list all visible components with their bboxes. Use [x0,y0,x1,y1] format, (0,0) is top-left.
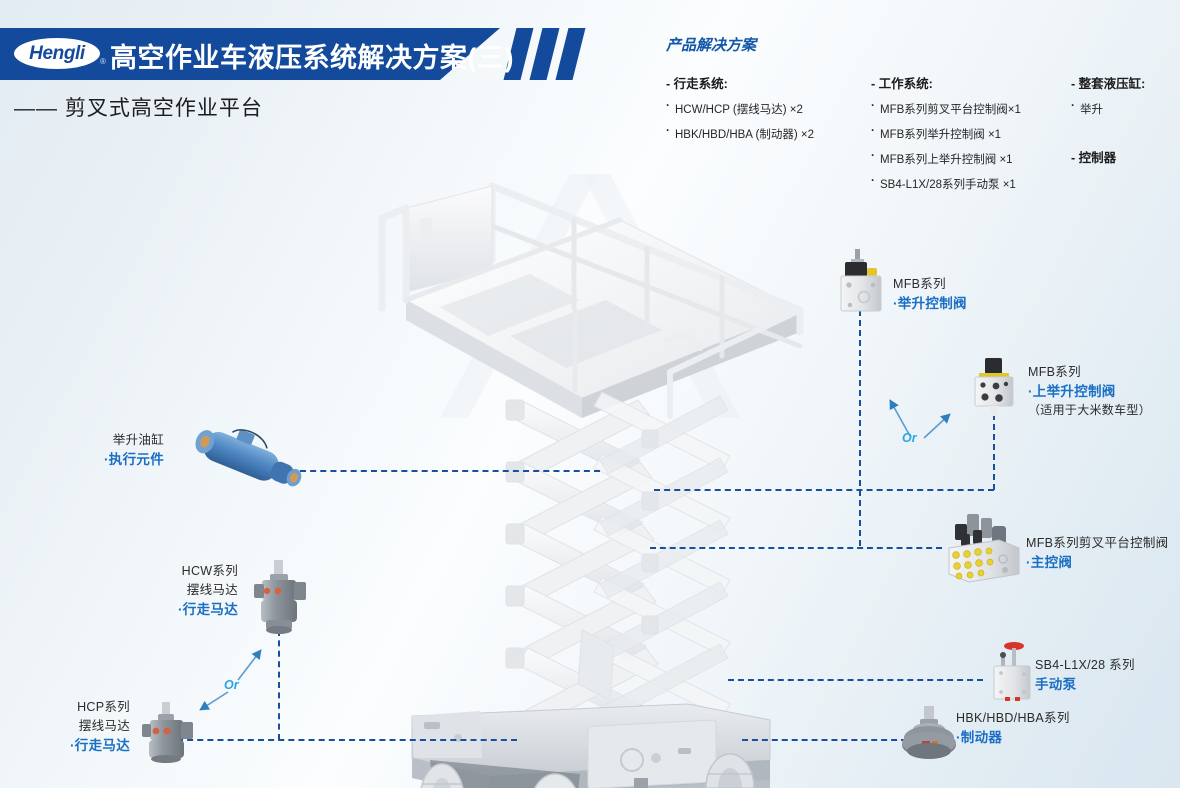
callout-line: MFB系列 [1028,363,1151,382]
scissor-arms [506,392,730,726]
registered-trademark-icon: ® [100,57,106,66]
callout-line: 举升油缸 [64,431,164,450]
solution-column-work-system: - 工作系统: MFB系列剪叉平台控制阀×1 MFB系列举升控制阀 ×1 MFB… [871,73,1071,201]
solution-item: MFB系列举升控制阀 ×1 [871,126,1071,142]
callout-line: 摆线马达 [150,581,238,600]
callout-hcp-motor: HCP系列 摆线马达 ·行走马达 [42,698,130,755]
connector-upper-lift-valve [654,489,994,491]
callout-line: 手动泵 [1035,675,1135,694]
callout-line: ·上举升控制阀 [1028,382,1151,401]
callout-mfb-lift-valve: MFB系列 ·举升控制阀 [893,275,967,313]
connector-hcp-motor [177,739,517,741]
solution-column-heading: - 行走系统: [666,73,871,92]
scissor-lift-platform-illustration [370,160,830,788]
mfb-lift-control-valve-image [832,248,890,314]
header-chevron-stripes [496,28,626,80]
or-label-right: Or [902,431,917,445]
callout-mfb-main-valve: MFB系列剪叉平台控制阀 ·主控阀 [1026,534,1169,572]
logo-wordmark: Hengli [14,38,100,69]
callout-hand-pump: SB4-L1X/28 系列 手动泵 [1035,656,1135,694]
chevron-stripe-3 [556,28,586,80]
callout-line: 摆线马达 [42,717,130,736]
connector-lift-cylinder [300,470,600,472]
solution-item: MFB系列剪叉平台控制阀×1 [871,101,1071,117]
callout-lift-cylinder: 举升油缸 ·执行元件 [64,431,164,469]
callout-line: HCP系列 [42,698,130,717]
solution-item: SB4-L1X/28系列手动泵 ×1 [871,176,1071,192]
callout-hcw-motor: HCW系列 摆线马达 ·行走马达 [150,562,238,619]
callout-line: ·执行元件 [64,450,164,469]
connector-brake [742,739,907,741]
chevron-stripe-2 [530,28,560,80]
solution-column-heading-controller: - 控制器 [1071,147,1180,166]
page-subtitle: —— 剪叉式高空作业平台 [14,92,263,122]
hengli-logo: Hengli ® [14,38,100,69]
slide-canvas: Hengli ® 高空作业车液压系统解决方案(三) —— 剪叉式高空作业平台 产… [0,0,1180,788]
hcw-motor-image [248,558,310,636]
chassis-base [412,704,770,788]
solution-column-heading: - 整套液压缸: [1071,73,1180,92]
callout-line: MFB系列 [893,275,967,294]
callout-line: MFB系列剪叉平台控制阀 [1026,534,1169,553]
page-title: 高空作业车液压系统解决方案(三) [110,36,514,75]
callout-line: SB4-L1X/28 系列 [1035,656,1135,675]
callout-line: ·举升控制阀 [893,294,967,313]
callout-line: ·主控阀 [1026,553,1169,572]
connector-lift-valve-vertical [859,310,861,546]
solution-column-travel-system: - 行走系统: HCW/HCP (摆线马达) ×2 HBK/HBD/HBA (制… [666,73,871,201]
or-arrows-left [186,640,296,720]
solution-item: HBK/HBD/HBA (制动器) ×2 [666,126,871,142]
solution-column-heading: - 工作系统: [871,73,1071,92]
product-solution-panel: 产品解决方案 - 行走系统: HCW/HCP (摆线马达) ×2 HBK/HBD… [666,34,1180,201]
solution-item: 举升 [1071,101,1180,117]
hand-pump-image [985,640,1037,702]
solution-item: HCW/HCP (摆线马达) ×2 [666,101,871,117]
callout-line: ·行走马达 [42,736,130,755]
callout-line: （适用于大米数车型） [1028,401,1151,420]
callout-line: HCW系列 [150,562,238,581]
product-solution-title: 产品解决方案 [666,34,1180,55]
solution-column-cylinder-set: - 整套液压缸: 举升 - 控制器 [1071,73,1180,201]
callout-brake: HBK/HBD/HBA系列 ·制动器 [956,709,1070,747]
lift-cylinder-image [178,418,318,498]
or-label-left: Or [224,678,239,692]
solution-item: MFB系列上举升控制阀 ×1 [871,151,1071,167]
brake-image [898,705,960,763]
callout-line: ·制动器 [956,728,1070,747]
mfb-main-control-valve-image [943,512,1025,584]
or-arrows-right [872,382,992,452]
callout-mfb-upper-lift-valve: MFB系列 ·上举升控制阀 （适用于大米数车型） [1028,363,1151,420]
platform-basket [382,186,800,418]
callout-line: ·行走马达 [150,600,238,619]
callout-line: HBK/HBD/HBA系列 [956,709,1070,728]
connector-main-valve [650,547,942,549]
connector-hand-pump [728,679,983,681]
